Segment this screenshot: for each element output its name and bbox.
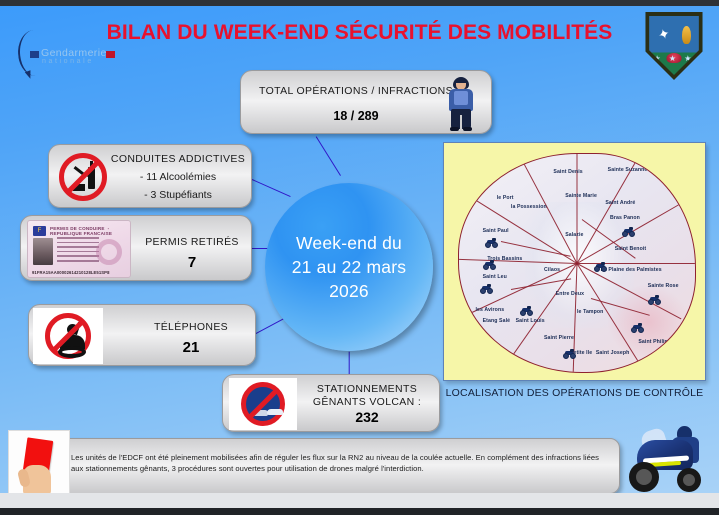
commune-label: les Avirons bbox=[476, 307, 505, 313]
card-total-operations[interactable]: TOTAL OPÉRATIONS / INFRACTIONS 18 / 289 bbox=[240, 70, 492, 134]
moto-marker bbox=[631, 324, 644, 333]
commune-label: Etang Salé bbox=[483, 318, 511, 324]
commune-label: Sainte Rose bbox=[648, 283, 679, 289]
commune-label: Bras Panon bbox=[610, 215, 640, 221]
card-stationnements-label: STATIONNEMENTS GÊNANTS VOLCAN : bbox=[299, 383, 435, 409]
logo-line2: nationale bbox=[42, 58, 94, 65]
commune-label: La Plaine des Palmistes bbox=[601, 267, 662, 273]
commune-label: Sainte Suzanne bbox=[608, 167, 648, 173]
card-stationnements-value: 232 bbox=[299, 409, 435, 425]
logo-square-blue-icon bbox=[30, 51, 39, 58]
card-addictives-item-stupefiants: - 3 Stupéfiants bbox=[107, 189, 249, 201]
commune-label: Saint Denis bbox=[553, 169, 582, 175]
unit-crest-icon: ✦ ★ ★ ★ bbox=[643, 12, 705, 80]
moto-marker bbox=[485, 239, 498, 248]
center-line-1: Week-end du bbox=[292, 231, 406, 255]
driving-licence-image: F PERMIS DE CONDUIRE - REPUBLIQUE FRANCA… bbox=[27, 220, 131, 278]
torch-icon bbox=[682, 26, 691, 44]
commune-label: Saint Joseph bbox=[596, 350, 630, 356]
eu-flag-icon: F bbox=[33, 226, 46, 236]
card-total-label: TOTAL OPÉRATIONS / INFRACTIONS bbox=[253, 85, 459, 97]
licence-mrz-text: 91FRA15AA00002614210128LE51SP8 bbox=[32, 270, 110, 275]
card-telephones-value: 21 bbox=[135, 339, 247, 356]
reunion-island-shape: Saint DenisSainte Suzannele Portla Posse… bbox=[458, 153, 696, 373]
slide-viewer: Gendarmerie nationale BILAN DU WEEK-END … bbox=[0, 0, 719, 515]
licence-hologram bbox=[96, 239, 122, 265]
bottom-chrome-bar bbox=[0, 508, 719, 515]
commune-label: le Port bbox=[497, 195, 514, 201]
moto-marker bbox=[480, 285, 493, 294]
card-permis-retires[interactable]: F PERMIS DE CONDUIRE - REPUBLIQUE FRANCA… bbox=[20, 215, 252, 281]
licence-header-text: PERMIS DE CONDUIRE - REPUBLIQUE FRANCAIS… bbox=[50, 226, 130, 236]
card-permis-value: 7 bbox=[139, 254, 245, 271]
connector-total bbox=[315, 136, 341, 176]
commune-label: Saint Paul bbox=[483, 228, 509, 234]
slide-canvas: Gendarmerie nationale BILAN DU WEEK-END … bbox=[0, 6, 719, 493]
card-telephones-label: TÉLÉPHONES bbox=[135, 321, 247, 333]
gendarmerie-motorcycle-icon bbox=[619, 424, 715, 493]
summary-text: Les unités de l'EDCF ont été pleinement … bbox=[71, 452, 611, 474]
commune-label: Salazie bbox=[565, 232, 583, 238]
card-permis-label: PERMIS RETIRÉS bbox=[139, 236, 245, 248]
connector-addictives bbox=[252, 179, 291, 197]
gendarme-figure-icon bbox=[441, 75, 481, 131]
licence-photo bbox=[33, 238, 53, 265]
commune-label: Entre Deux bbox=[556, 291, 584, 297]
commune-label: Saint André bbox=[605, 200, 635, 206]
card-total-value: 18 / 289 bbox=[253, 109, 459, 123]
card-telephones[interactable]: TÉLÉPHONES 21 bbox=[28, 304, 256, 366]
card-conduites-addictives[interactable]: CONDUITES ADDICTIVES - 11 Alcoolémies - … bbox=[48, 144, 252, 208]
commune-label: Saint Benoit bbox=[615, 246, 646, 252]
card-stationnements-genants[interactable]: STATIONNEMENTS GÊNANTS VOLCAN : 232 bbox=[222, 374, 440, 432]
logo-square-red-icon bbox=[106, 51, 115, 58]
commune-label: la Possession bbox=[511, 204, 547, 210]
card-stationnements-label-line2: GÊNANTS VOLCAN : bbox=[313, 396, 421, 408]
center-line-2: 21 au 22 mars bbox=[292, 255, 406, 279]
commune-label: Saint Pierre bbox=[544, 335, 574, 341]
center-line-3: 2026 bbox=[292, 279, 406, 303]
licence-fields bbox=[57, 237, 99, 265]
moto-marker bbox=[622, 228, 635, 237]
hand-holding-red-card-icon bbox=[8, 430, 70, 493]
card-addictives-label: CONDUITES ADDICTIVES bbox=[107, 153, 249, 165]
card-summary-text[interactable]: Les unités de l'EDCF ont été pleinement … bbox=[58, 438, 620, 493]
no-phone-while-driving-icon bbox=[33, 308, 103, 364]
center-period-text: Week-end du 21 au 22 mars 2026 bbox=[292, 231, 406, 303]
commune-label: Saint Leu bbox=[483, 274, 507, 280]
card-addictives-item-alcoolemies: - 11 Alcoolémies bbox=[107, 171, 249, 183]
map-caption: LOCALISATION DES OPÉRATIONS DE CONTRÔLE bbox=[443, 387, 706, 399]
commune-label: le Tampon bbox=[577, 309, 603, 315]
page-title: BILAN DU WEEK-END SÉCURITÉ DES MOBILITÉS bbox=[0, 21, 719, 45]
commune-label: Saint Louis bbox=[516, 318, 545, 324]
moto-marker bbox=[563, 350, 576, 359]
no-parking-icon bbox=[229, 378, 297, 430]
card-stationnements-label-line1: STATIONNEMENTS bbox=[317, 383, 417, 395]
map-panel[interactable]: Saint DenisSainte Suzannele Portla Posse… bbox=[443, 142, 706, 381]
moto-marker bbox=[483, 261, 496, 270]
moto-marker bbox=[648, 296, 661, 305]
no-alcohol-no-drugs-icon bbox=[55, 148, 111, 206]
moto-marker bbox=[594, 263, 607, 272]
commune-label: Sainte Marie bbox=[565, 193, 597, 199]
commune-label: Saint Philippe bbox=[638, 339, 674, 345]
bird-icon: ✦ bbox=[656, 26, 671, 43]
moto-marker bbox=[520, 307, 533, 316]
center-period-circle: Week-end du 21 au 22 mars 2026 bbox=[265, 183, 433, 351]
crest-inner-field: ✦ ★ ★ ★ bbox=[647, 16, 701, 75]
bottom-light-strip bbox=[0, 493, 719, 508]
commune-label: Cilaos bbox=[544, 267, 560, 273]
